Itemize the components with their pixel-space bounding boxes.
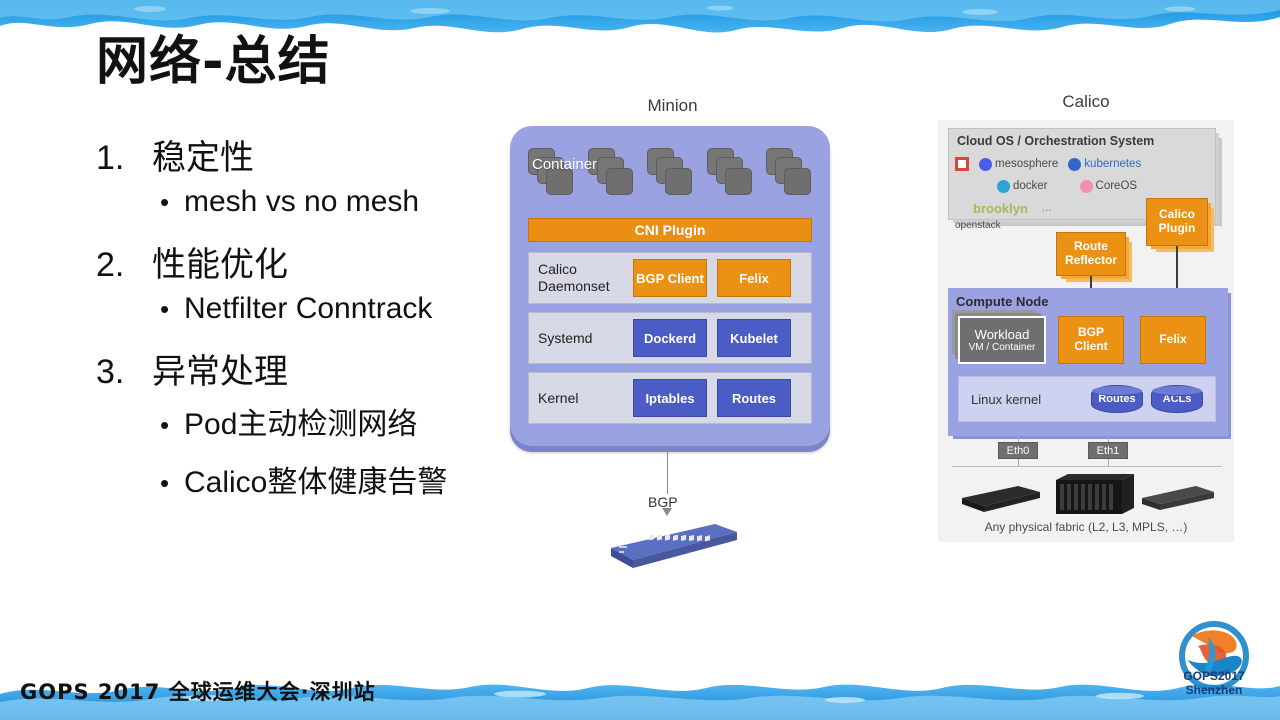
chip-iptables: Iptables — [633, 379, 707, 417]
container-box-icon — [784, 168, 811, 195]
logo-label-coreos: CoreOS — [1096, 180, 1138, 192]
cloud-os-title: Cloud OS / Orchestration System — [957, 134, 1154, 148]
outline-text-3: 异常处理 — [152, 344, 288, 393]
acls-store: ACLs — [1151, 385, 1203, 413]
outline-subs-3: • Pod主动检测网络 • Calico整体健康告警 — [160, 399, 516, 501]
logo-label-openstack: openstack — [955, 220, 1001, 231]
gops-logo-label: GOPS2017 Shenzhen — [1162, 670, 1266, 698]
outline-sub-text-3-2: Calico整体健康告警 — [184, 457, 447, 501]
logo-label-mesosphere: mesosphere — [995, 158, 1058, 170]
minion-caption: Minion — [505, 96, 840, 116]
logo-openstack — [955, 157, 969, 171]
openstack-icon — [955, 157, 969, 171]
container-box-icon — [606, 168, 633, 195]
eth0-badge: Eth0 — [998, 442, 1038, 459]
logo-coreos: CoreOS — [1080, 180, 1138, 193]
outline-number-2: 2. — [96, 246, 152, 285]
calico-diagram: Calico Cloud OS / Orchestration System m… — [930, 92, 1242, 552]
cni-plugin-bar: CNI Plugin — [528, 218, 812, 242]
logo-mesosphere: mesosphere — [979, 158, 1058, 171]
layer-label-calico: CalicoDaemonset — [529, 261, 633, 295]
coreos-icon — [1080, 180, 1093, 193]
compute-node-title: Compute Node — [956, 294, 1048, 309]
layer-calico-daemonset: CalicoDaemonset BGP Client Felix — [528, 252, 812, 304]
logo-label-docker: docker — [1013, 180, 1048, 192]
felix-box: Felix — [1140, 316, 1206, 364]
calico-plugin-label: CalicoPlugin — [1159, 208, 1196, 236]
chip-dockerd: Dockerd — [633, 319, 707, 357]
outline-text-1: 稳定性 — [152, 130, 254, 179]
outline-sub-text-2-1: Netfilter Conntrack — [184, 292, 432, 326]
bgp-client-box: BGPClient — [1058, 316, 1124, 364]
gops-logo-line1: GOPS2017 — [1183, 669, 1244, 683]
calico-diagram-body: Cloud OS / Orchestration System mesosphe… — [938, 120, 1234, 542]
gops-logo-line2: Shenzhen — [1186, 683, 1243, 697]
docker-icon — [997, 180, 1010, 193]
compute-node-panel: Compute Node Workload VM / Container BGP… — [948, 288, 1228, 436]
outline-sub-3-1: • Pod主动检测网络 — [160, 399, 516, 443]
eth1-badge: Eth1 — [1088, 442, 1128, 459]
outline-number-3: 3. — [96, 353, 152, 392]
outline-item-1: 1. 稳定性 • mesh vs no mesh — [96, 130, 516, 219]
layer-kernel: Kernel Iptables Routes — [528, 372, 812, 424]
outline-head-1: 1. 稳定性 — [96, 130, 516, 179]
outline-sub-text-3-1: Pod主动检测网络 — [184, 399, 417, 443]
container-box-icon — [665, 168, 692, 195]
fabric-divider — [952, 466, 1222, 467]
outline-sub-text-1-1: mesh vs no mesh — [184, 185, 419, 219]
routes-store: Routes — [1091, 385, 1143, 413]
linux-kernel-label: Linux kernel — [959, 392, 1091, 407]
kubernetes-icon — [1068, 158, 1081, 171]
workload-label: Workload — [975, 327, 1030, 342]
bullet-dot-icon: • — [160, 470, 184, 496]
logo-label-ellipsis: ... — [1042, 202, 1052, 214]
container-stack — [707, 148, 753, 206]
logo-docker: docker — [997, 180, 1048, 193]
minion-diagram: Minion — [505, 96, 840, 576]
chip-felix: Felix — [717, 259, 791, 297]
bullet-dot-icon: • — [160, 189, 184, 215]
outline-sub-3-2: • Calico整体健康告警 — [160, 457, 516, 501]
physical-fabric-devices — [956, 472, 1218, 518]
container-stack — [766, 148, 812, 206]
logo-line-2: docker CoreOS — [955, 175, 1213, 197]
outline-head-2: 2. 性能优化 — [96, 237, 516, 286]
logo-label-kubernetes: kubernetes — [1084, 158, 1141, 170]
gops-logo-icon — [1162, 612, 1266, 716]
outline-subs-2: • Netfilter Conntrack — [160, 292, 516, 326]
minion-node-box: Container CNI Plugin CalicoDaemonset BGP… — [510, 126, 830, 446]
calico-caption: Calico — [930, 92, 1242, 112]
chip-bgp-client: BGP Client — [633, 259, 707, 297]
layer-label-systemd: Systemd — [529, 330, 633, 347]
linux-kernel-panel: Linux kernel Routes ACLs — [958, 376, 1216, 422]
page-title: 网络-总结 — [96, 34, 331, 91]
bgp-arrow-icon — [662, 508, 672, 516]
workload-sublabel: VM / Container — [969, 342, 1036, 353]
outline-list: 1. 稳定性 • mesh vs no mesh 2. 性能优化 • Netfi… — [96, 130, 516, 519]
logo-label-brooklyn: brooklyn — [973, 201, 1028, 216]
logo-line-1: mesosphere kubernetes — [955, 153, 1213, 175]
route-reflector-box: RouteReflector — [1056, 232, 1126, 276]
chip-routes: Routes — [717, 379, 791, 417]
calico-plugin-box: CalicoPlugin — [1146, 198, 1208, 246]
outline-text-2: 性能优化 — [152, 237, 288, 286]
outline-item-3: 3. 异常处理 • Pod主动检测网络 • Calico整体健康告警 — [96, 344, 516, 501]
logo-kubernetes: kubernetes — [1068, 158, 1141, 171]
bullet-dot-icon: • — [160, 296, 184, 322]
outline-head-3: 3. 异常处理 — [96, 344, 516, 393]
fabric-caption: Any physical fabric (L2, L3, MPLS, …) — [938, 520, 1234, 534]
container-stack — [647, 148, 693, 206]
bgp-client-label: BGPClient — [1074, 326, 1107, 354]
container-label: Container — [532, 156, 597, 173]
layer-systemd: Systemd Dockerd Kubelet — [528, 312, 812, 364]
layer-label-kernel: Kernel — [529, 390, 633, 407]
outline-sub-1-1: • mesh vs no mesh — [160, 185, 516, 219]
mesosphere-icon — [979, 158, 992, 171]
container-box-icon — [725, 168, 752, 195]
network-switch-icon — [603, 518, 738, 570]
bullet-dot-icon: • — [160, 412, 184, 438]
chip-kubelet: Kubelet — [717, 319, 791, 357]
workload-box: Workload VM / Container — [958, 316, 1046, 364]
outline-subs-1: • mesh vs no mesh — [160, 185, 516, 219]
outline-sub-2-1: • Netfilter Conntrack — [160, 292, 516, 326]
outline-number-1: 1. — [96, 139, 152, 178]
outline-item-2: 2. 性能优化 • Netfilter Conntrack — [96, 237, 516, 326]
route-reflector-label: RouteReflector — [1065, 240, 1117, 268]
event-footer-text: GOPS 2017 全球运维大会·深圳站 — [20, 676, 376, 706]
